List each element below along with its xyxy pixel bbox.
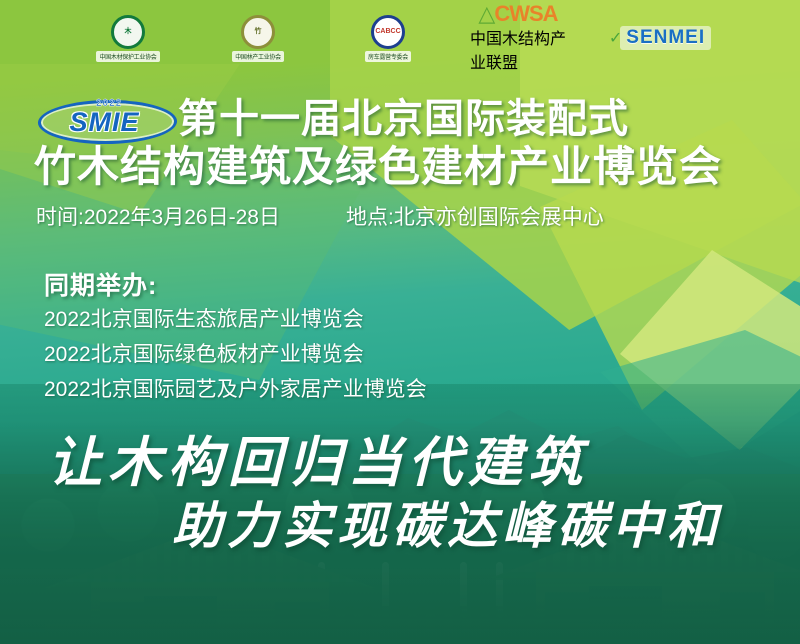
tree-emblem-icon: 木 xyxy=(111,15,145,49)
page-title-line1: 第十一届北京国际装配式 xyxy=(178,96,788,142)
association-name: 房车露营专委会 xyxy=(365,51,411,62)
association-logo-strip: 木 中国木材保护工业协会 竹 中国林产工业协会 CABCC 房车露营专委会 △C… xyxy=(0,8,800,68)
association-name: 中国林产工业协会 xyxy=(232,51,284,62)
page-title-line2: 竹木结构建筑及绿色建材产业博览会 xyxy=(34,142,794,192)
association-logo-wood-protection: 木 中国木材保护工业协会 xyxy=(80,10,176,66)
concurrent-events-heading: 同期举办: xyxy=(44,266,157,302)
smie-logo: 2022 SMIE xyxy=(38,96,171,142)
smie-wordmark: SMIE xyxy=(69,107,139,138)
association-name: 中国木结构产业联盟 xyxy=(470,25,566,73)
concurrent-event-item: 2022北京国际绿色板材产业博览会 xyxy=(44,337,564,372)
concurrent-event-item: 2022北京国际园艺及户外家居产业博览会 xyxy=(44,372,564,407)
event-date: 时间:2022年3月26日-28日 xyxy=(36,201,280,231)
cabcc-emblem-glyph: CABCC xyxy=(375,28,400,35)
association-logo-senmei: ✓ SENMEI xyxy=(600,10,720,66)
association-logo-cwsa: △CWSA 中国木结构产业联盟 xyxy=(470,10,566,66)
house-emblem-glyph: △ xyxy=(478,1,494,26)
association-logo-forest-products: 竹 中国林产工业协会 xyxy=(210,10,306,66)
bamboo-emblem-icon: 竹 xyxy=(241,15,275,49)
cabcc-emblem-icon: CABCC xyxy=(371,15,405,49)
concurrent-events-list: 2022北京国际生态旅居产业博览会 2022北京国际绿色板材产业博览会 2022… xyxy=(44,302,564,407)
event-venue: 地点:北京亦创国际会展中心 xyxy=(346,201,604,231)
house-emblem-icon: △CWSA xyxy=(478,3,557,25)
bamboo-emblem-glyph: 竹 xyxy=(255,28,262,35)
event-meta: 时间:2022年3月26日-28日 地点:北京亦创国际会展中心 xyxy=(36,202,776,230)
tree-emblem-glyph: 木 xyxy=(125,28,132,35)
association-name: 中国木材保护工业协会 xyxy=(96,51,159,62)
cwsa-emblem-text: CWSA xyxy=(494,1,557,26)
senmei-wordmark: SENMEI xyxy=(620,26,711,50)
association-logo-rv-camping: CABCC 房车露营专委会 xyxy=(340,10,436,66)
exhibition-poster: 木 中国木材保护工业协会 竹 中国林产工业协会 CABCC 房车露营专委会 △C… xyxy=(0,0,800,644)
concurrent-event-item: 2022北京国际生态旅居产业博览会 xyxy=(44,302,564,337)
slogan-line2: 助力实现碳达峰碳中和 xyxy=(172,486,722,558)
poster-content: 木 中国木材保护工业协会 竹 中国林产工业协会 CABCC 房车露营专委会 △C… xyxy=(0,0,800,644)
